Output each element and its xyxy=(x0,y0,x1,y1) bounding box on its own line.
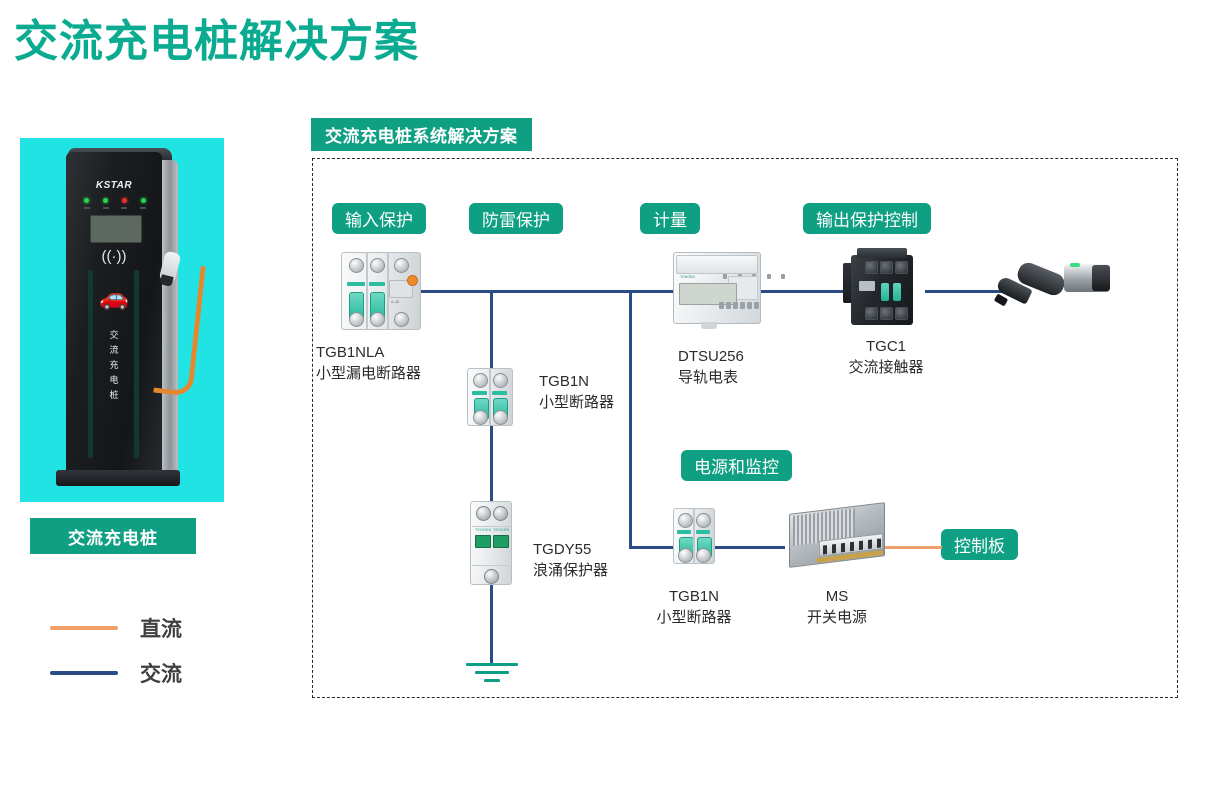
label-dtsu256-model: DTSU256 xyxy=(678,346,744,367)
dtsu256-keypad[interactable] xyxy=(719,302,759,309)
label-tgb1n-upper: TGB1N 小型断路器 xyxy=(539,371,614,413)
pile-display-screen xyxy=(90,215,142,243)
component-tgb1n-lower xyxy=(673,508,715,564)
legend-swatch-ac xyxy=(50,671,118,675)
wire-ac-branch-to-upper-mcb xyxy=(490,290,493,368)
label-tgdy55-model: TGDY55 xyxy=(533,539,608,560)
tgc1-terminal-top-3 xyxy=(895,261,908,274)
legend-item-dc: 直流 xyxy=(50,605,182,650)
label-tgb1n-upper-model: TGB1N xyxy=(539,371,614,392)
wire-ac-spd-to-ground xyxy=(490,585,493,663)
tgc1-top-cap xyxy=(857,248,907,258)
tgb1n-lower-terminal-bot-1 xyxy=(678,548,693,563)
tgdy55-status-window-1 xyxy=(475,535,491,548)
tgdy55-terminal-bottom xyxy=(484,569,499,584)
led-slot-4 xyxy=(140,207,146,209)
label-tgc1: TGC1 交流接触器 xyxy=(838,336,934,378)
dtsu256-key-1[interactable] xyxy=(719,302,724,309)
led-green-2 xyxy=(103,198,108,203)
diagram-header-badge: 交流充电桩系统解决方案 xyxy=(311,118,532,151)
tgb1n-lower-band-2 xyxy=(696,530,710,534)
tgb1nla-band-1 xyxy=(347,282,365,286)
tgc1-terminal-bot-3 xyxy=(895,307,908,320)
section-badge-control-board: 控制板 xyxy=(941,529,1018,560)
component-dtsu256: TENGEN xyxy=(673,252,761,324)
label-ms-psu: MS 开关电源 xyxy=(785,586,889,628)
tgb1nla-terminal-top-1 xyxy=(349,258,364,273)
gun-cable-cap xyxy=(1092,265,1110,291)
tgdy55-brand-1: TENGEN xyxy=(475,528,491,532)
led-slot-2 xyxy=(103,207,109,209)
component-ms-psu xyxy=(789,508,885,562)
wire-ac-main-bus xyxy=(420,290,673,293)
ms-psu-screw-7 xyxy=(877,538,881,547)
ms-psu-screw-3 xyxy=(841,543,845,552)
tgb1n-upper-terminal-top-1 xyxy=(473,373,488,388)
dtsu256-key-6[interactable] xyxy=(754,302,759,309)
section-badge-output-protection-control: 输出保护控制 xyxy=(803,203,931,234)
tgb1n-lower-terminal-bot-2 xyxy=(696,548,711,563)
ev-charging-car-icon: 🚗 xyxy=(66,286,162,310)
component-tgdy55: TENGEN TENGEN xyxy=(470,501,512,585)
tgc1-terminal-bot-1 xyxy=(865,307,878,320)
wire-dc-psu-to-control-board xyxy=(884,546,942,549)
tgb1nla-test-button xyxy=(407,275,418,286)
component-tgb1nla: A-40 xyxy=(341,252,421,330)
product-caption-badge: 交流充电桩 xyxy=(30,518,196,554)
tgb1nla-band-2 xyxy=(369,282,385,286)
pile-vertical-text: 交流充电桩 xyxy=(66,328,162,403)
tgb1n-upper-terminal-bot-2 xyxy=(493,410,508,425)
tgb1nla-terminal-bot-2 xyxy=(370,312,385,327)
tgdy55-terminal-top-2 xyxy=(493,506,508,521)
dtsu256-led-4 xyxy=(767,274,771,279)
label-tgb1nla: TGB1NLA 小型漏电断路器 xyxy=(316,342,421,384)
led-green-1 xyxy=(84,198,89,203)
label-tgb1nla-model: TGB1NLA xyxy=(316,342,421,363)
led-slot-3 xyxy=(121,207,127,209)
tgb1nla-terminal-top-3 xyxy=(394,258,409,273)
ground-symbol xyxy=(466,663,518,685)
legend-label-dc: 直流 xyxy=(140,613,182,643)
tgb1nla-rating-text: A-40 xyxy=(391,300,399,304)
label-tgdy55: TGDY55 浪涌保护器 xyxy=(533,539,608,581)
led-red xyxy=(122,198,127,203)
ms-psu-screw-4 xyxy=(850,542,854,551)
dtsu256-din-clip xyxy=(701,322,717,329)
legend-label-ac: 交流 xyxy=(140,658,182,688)
legend-swatch-dc xyxy=(50,626,118,630)
tgb1nla-module-gap-2 xyxy=(387,252,389,330)
dtsu256-led-5 xyxy=(781,274,785,279)
tgb1n-upper-module-gap xyxy=(489,368,491,426)
ms-psu-screw-2 xyxy=(832,544,836,553)
tgb1n-upper-terminal-bot-1 xyxy=(473,410,488,425)
label-tgc1-model: TGC1 xyxy=(838,336,934,357)
component-tgb1n-upper xyxy=(467,368,513,426)
label-tgb1n-upper-desc: 小型断路器 xyxy=(539,392,614,413)
label-tgb1n-lower-model: TGB1N xyxy=(634,586,754,607)
tgb1n-lower-band-1 xyxy=(677,530,691,534)
label-tgb1nla-desc: 小型漏电断路器 xyxy=(316,363,421,384)
tgb1n-upper-band-1 xyxy=(472,391,487,395)
led-green-3 xyxy=(141,198,146,203)
tgc1-terminal-top-2 xyxy=(880,261,893,274)
legend: 直流 交流 xyxy=(50,605,182,695)
dtsu256-key-3[interactable] xyxy=(733,302,738,309)
pile-led-row xyxy=(84,198,146,203)
tgb1nla-terminal-bot-3 xyxy=(394,312,409,327)
tgc1-indicator-1 xyxy=(881,283,889,301)
dtsu256-key-4[interactable] xyxy=(740,302,745,309)
ms-psu-screw-1 xyxy=(823,545,827,554)
page-root: 交流充电桩解决方案 KSTAR ((·)) 🚗 交流充电桩 xyxy=(0,0,1213,812)
wire-ac-lower-mcb-to-psu xyxy=(713,546,785,549)
tgdy55-divider-top xyxy=(472,526,510,527)
legend-item-ac: 交流 xyxy=(50,650,182,695)
ground-bar-3 xyxy=(484,679,500,682)
label-tgdy55-desc: 浪涌保护器 xyxy=(533,560,608,581)
wire-ac-meter-to-contactor xyxy=(760,290,845,293)
label-dtsu256: DTSU256 导轨电表 xyxy=(678,346,744,388)
label-tgb1n-lower: TGB1N 小型断路器 xyxy=(634,586,754,628)
label-tgc1-desc: 交流接触器 xyxy=(838,357,934,378)
ms-psu-screw-6 xyxy=(868,540,872,549)
tgb1nla-module-gap-1 xyxy=(366,252,368,330)
tgb1nla-terminal-top-2 xyxy=(370,258,385,273)
wire-ac-to-lower-mcb xyxy=(629,546,675,549)
dtsu256-brand: TENGEN xyxy=(680,275,695,279)
tgdy55-brand-2: TENGEN xyxy=(493,528,509,532)
tgdy55-divider-bottom xyxy=(472,565,510,566)
section-badge-metering: 计量 xyxy=(640,203,700,234)
dtsu256-key-5[interactable] xyxy=(747,302,752,309)
ground-bar-2 xyxy=(475,671,509,674)
section-badge-lightning-protection: 防雷保护 xyxy=(469,203,563,234)
dtsu256-key-2[interactable] xyxy=(726,302,731,309)
label-ms-psu-model: MS xyxy=(785,586,889,607)
dtsu256-led-1 xyxy=(723,274,727,279)
tgc1-indicator-2 xyxy=(893,283,901,301)
tgb1n-upper-terminal-top-2 xyxy=(493,373,508,388)
section-badge-power-and-monitoring: 电源和监控 xyxy=(681,450,792,481)
wire-ac-branch-to-psu-path xyxy=(629,290,632,548)
ground-bar-1 xyxy=(466,663,518,666)
wire-ac-upper-mcb-to-spd xyxy=(490,425,493,501)
ev-connector-gun xyxy=(995,252,1110,322)
pile-led-slots xyxy=(84,207,146,209)
tgc1-terminal-bot-2 xyxy=(880,307,893,320)
gun-status-light xyxy=(1070,263,1080,267)
ms-psu-screw-5 xyxy=(859,541,863,550)
tgb1nla-terminal-bot-1 xyxy=(349,312,364,327)
pile-base-plate xyxy=(56,470,180,486)
component-tgc1 xyxy=(851,255,913,325)
tgb1n-upper-band-2 xyxy=(492,391,507,395)
tgc1-nameplate xyxy=(859,281,875,291)
tgb1n-lower-terminal-top-1 xyxy=(678,513,693,528)
tgc1-terminal-top-1 xyxy=(865,261,878,274)
tgb1n-lower-terminal-top-2 xyxy=(696,513,711,528)
section-badge-input-protection: 输入保护 xyxy=(332,203,426,234)
rfid-wave-icon: ((·)) xyxy=(66,249,162,264)
tgdy55-status-window-2 xyxy=(493,535,509,548)
dtsu256-terminal-cover xyxy=(676,255,758,274)
charging-pile-photo: KSTAR ((·)) 🚗 交流充电桩 xyxy=(20,138,224,502)
label-dtsu256-desc: 导轨电表 xyxy=(678,367,744,388)
tgdy55-terminal-top-1 xyxy=(476,506,491,521)
label-tgb1n-lower-desc: 小型断路器 xyxy=(634,607,754,628)
kstar-logo: KSTAR xyxy=(66,180,162,191)
tgb1n-lower-module-gap xyxy=(693,508,695,564)
pile-body: KSTAR ((·)) 🚗 交流充电桩 xyxy=(66,152,162,472)
page-title: 交流充电桩解决方案 xyxy=(14,20,419,64)
led-slot-1 xyxy=(84,207,90,209)
label-ms-psu-desc: 开关电源 xyxy=(785,607,889,628)
